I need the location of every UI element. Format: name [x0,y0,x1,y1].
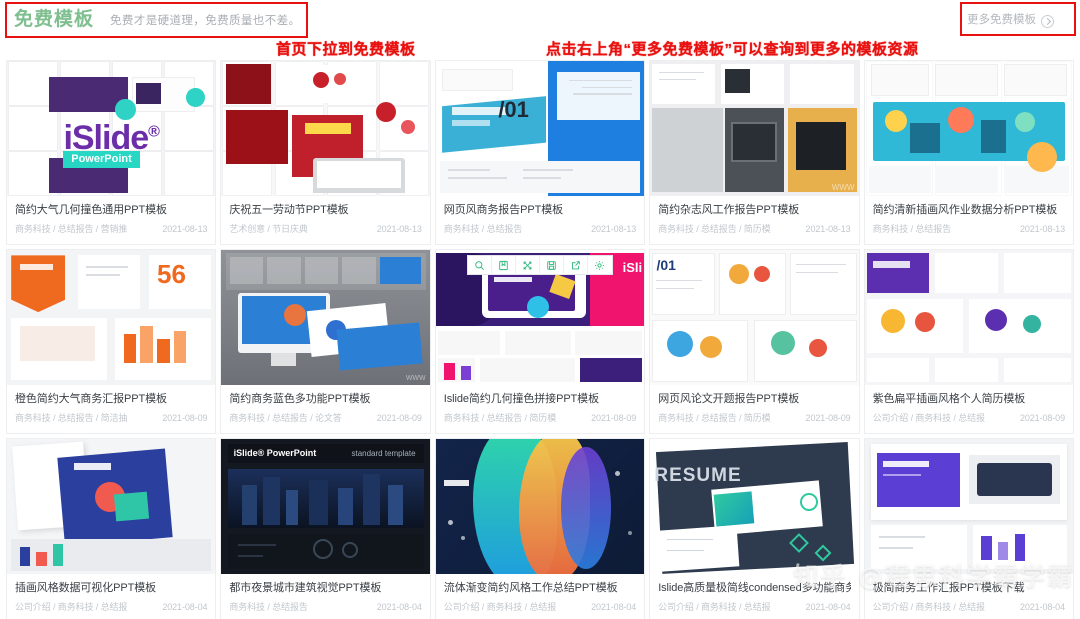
template-meta: 庆祝五一劳动节PPT模板艺术创意 / 节日庆典2021-08-13 [221,196,429,236]
settings-gear-icon[interactable] [588,256,612,275]
template-title[interactable]: 简约大气几何撞色通用PPT模板 [15,203,207,218]
template-tags[interactable]: 商务科技 / 总结报告 / 论文答 [229,412,341,425]
template-date: 2021-08-04 [373,601,422,614]
template-title[interactable]: 庆祝五一劳动节PPT模板 [229,203,421,218]
template-meta: 流体渐变简约风格工作总结PPT模板公司介绍 / 商务科技 / 总结报2021-0… [436,574,644,614]
template-date: 2021-08-09 [587,412,636,425]
template-thumbnail[interactable]: WWW [221,250,429,385]
template-meta: 紫色扁平插画风格个人简历模板公司介绍 / 商务科技 / 总结报2021-08-0… [865,385,1073,425]
template-thumbnail[interactable] [7,439,215,574]
template-grid: iSlide® PowerPoint 简约大气几何撞色通用PPT模板商务科技 /… [6,60,1074,619]
template-meta: 简约大气几何撞色通用PPT模板商务科技 / 总结报告 / 营销推2021-08-… [7,196,215,236]
template-subinfo: 商务科技 / 总结报告2021-08-04 [229,601,421,614]
template-tags[interactable]: 商务科技 / 总结报告 [444,223,522,236]
template-date: 2021-08-09 [802,412,851,425]
template-tags[interactable]: 公司介绍 / 商务科技 / 总结报 [444,601,556,614]
template-title[interactable]: 插画风格数据可视化PPT模板 [15,581,207,596]
template-thumbnail[interactable]: iSlide® PowerPoint standard template [221,439,429,574]
template-thumbnail[interactable] [865,439,1073,574]
template-subinfo: 商务科技 / 总结报告 / 简洁抽2021-08-09 [15,412,207,425]
template-meta: 网页风论文开题报告PPT模板商务科技 / 总结报告 / 简历模2021-08-0… [650,385,858,425]
template-meta: Islide高质量极简线condensed多功能商务模板公司介绍 / 商务科技 … [650,574,858,614]
template-meta: 简约清新插画风作业数据分析PPT模板商务科技 / 总结报告2021-08-13 [865,196,1073,236]
template-thumbnail[interactable]: iSlide® PowerPoint [7,61,215,196]
bookmark-save-icon[interactable] [492,256,516,275]
template-date: 2021-08-13 [1016,223,1065,236]
template-tags[interactable]: 公司介绍 / 商务科技 / 总结报 [15,601,127,614]
template-tags[interactable]: 商务科技 / 总结报告 / 简历模 [444,412,556,425]
template-meta: 网页风商务报告PPT模板商务科技 / 总结报告2021-08-13 [436,196,644,236]
template-meta: 简约商务蓝色多功能PPT模板商务科技 / 总结报告 / 论文答2021-08-0… [221,385,429,425]
template-thumbnail[interactable]: /01 [650,250,858,385]
template-card[interactable]: 插画风格数据可视化PPT模板公司介绍 / 商务科技 / 总结报2021-08-0… [6,438,216,619]
template-subinfo: 公司介绍 / 商务科技 / 总结报2021-08-04 [15,601,207,614]
template-title[interactable]: 简约杂志风工作报告PPT模板 [658,203,850,218]
template-subinfo: 商务科技 / 总结报告 / 论文答2021-08-09 [229,412,421,425]
template-date: 2021-08-13 [373,223,422,236]
template-date: 2021-08-04 [158,601,207,614]
annotation-caption-left: 首页下拉到免费模板 [276,40,416,60]
template-card[interactable]: RESUME Islide高质量极简线condensed多功能商务模板公司介绍 … [649,438,859,619]
template-subinfo: 公司介绍 / 商务科技 / 总结报2021-08-04 [658,601,850,614]
template-meta: 简约杂志风工作报告PPT模板商务科技 / 总结报告 / 简历模2021-08-1… [650,196,858,236]
template-thumbnail[interactable]: WWW [650,61,858,196]
template-meta: 极简商务工作汇报PPT模板下载公司介绍 / 商务科技 / 总结报2021-08-… [865,574,1073,614]
template-card[interactable]: iSlide® PowerPoint 简约大气几何撞色通用PPT模板商务科技 /… [6,60,216,245]
template-title[interactable]: 简约清新插画风作业数据分析PPT模板 [873,203,1065,218]
template-title[interactable]: 极简商务工作汇报PPT模板下载 [873,581,1065,596]
template-card[interactable]: 56 橙色简约大气商务汇报PPT模板商务科技 / 总结报告 / 简洁抽2021-… [6,249,216,434]
template-thumbnail[interactable] [221,61,429,196]
template-title[interactable]: Islide高质量极简线condensed多功能商务模板 [658,581,850,596]
template-title[interactable]: 简约商务蓝色多功能PPT模板 [229,392,421,407]
template-thumbnail[interactable]: 56 [7,250,215,385]
template-title[interactable]: Islide简约几何撞色拼接PPT模板 [444,392,636,407]
template-thumbnail[interactable] [865,61,1073,196]
template-tags[interactable]: 商务科技 / 总结报告 / 简洁抽 [15,412,127,425]
template-subinfo: 公司介绍 / 商务科技 / 总结报2021-08-04 [444,601,636,614]
template-tags[interactable]: 公司介绍 / 商务科技 / 总结报 [658,601,770,614]
template-subinfo: 公司介绍 / 商务科技 / 总结报2021-08-09 [873,412,1065,425]
template-meta: 橙色简约大气商务汇报PPT模板商务科技 / 总结报告 / 简洁抽2021-08-… [7,385,215,425]
template-date: 2021-08-13 [587,223,636,236]
template-card[interactable]: 紫色扁平插画风格个人简历模板公司介绍 / 商务科技 / 总结报2021-08-0… [864,249,1074,434]
template-tags[interactable]: 公司介绍 / 商务科技 / 总结报 [873,601,985,614]
template-tags[interactable]: 商务科技 / 总结报告 [229,601,307,614]
template-card[interactable]: 庆祝五一劳动节PPT模板艺术创意 / 节日庆典2021-08-13 [220,60,430,245]
template-card[interactable]: WWW 简约杂志风工作报告PPT模板商务科技 / 总结报告 / 简历模2021-… [649,60,859,245]
template-subinfo: 商务科技 / 总结报告 / 简历模2021-08-09 [658,412,850,425]
template-subinfo: 商务科技 / 总结报告 / 简历模2021-08-13 [658,223,850,236]
template-title[interactable]: 紫色扁平插画风格个人简历模板 [873,392,1065,407]
template-date: 2021-08-13 [158,223,207,236]
template-tags[interactable]: 商务科技 / 总结报告 / 营销推 [15,223,127,236]
template-card[interactable]: 流体渐变简约风格工作总结PPT模板公司介绍 / 商务科技 / 总结报2021-0… [435,438,645,619]
template-card[interactable]: 极简商务工作汇报PPT模板下载公司介绍 / 商务科技 / 总结报2021-08-… [864,438,1074,619]
annotation-box-header [5,2,308,38]
template-title[interactable]: 都市夜景城市建筑视觉PPT模板 [229,581,421,596]
template-title[interactable]: 流体渐变简约风格工作总结PPT模板 [444,581,636,596]
share-export-icon[interactable] [564,256,588,275]
template-subinfo: 商务科技 / 总结报告2021-08-13 [873,223,1065,236]
template-card[interactable]: /01 网页风论文开题报告PPT模板商务科技 / 总结报告 / 简历模2021-… [649,249,859,434]
template-thumbnail[interactable]: RESUME [650,439,858,574]
template-thumbnail[interactable] [865,250,1073,385]
template-card[interactable]: /01 网页风商务报告PPT模板商务科技 / 总结报告2021-08-13 [435,60,645,245]
page-root: 免费模板 免费才是硬道理，免费质量也不差。 更多免费模板 首页下拉到免费模板 点… [0,0,1080,619]
card-hover-toolbar[interactable] [467,255,613,275]
fullscreen-expand-icon[interactable] [516,256,540,275]
template-date: 2021-08-04 [802,601,851,614]
template-thumbnail[interactable]: /01 [436,61,644,196]
template-title[interactable]: 橙色简约大气商务汇报PPT模板 [15,392,207,407]
template-date: 2021-08-09 [1016,412,1065,425]
template-tags[interactable]: 商务科技 / 总结报告 [873,223,951,236]
template-card[interactable]: WWW 简约商务蓝色多功能PPT模板商务科技 / 总结报告 / 论文答2021-… [220,249,430,434]
template-card[interactable]: iSli Islide简约几何撞色拼接PPT模板商务科技 / 总结报告 / 简历… [435,249,645,434]
template-tags[interactable]: 商务科技 / 总结报告 / 简历模 [658,412,770,425]
template-date: 2021-08-09 [373,412,422,425]
template-subinfo: 艺术创意 / 节日庆典2021-08-13 [229,223,421,236]
template-date: 2021-08-04 [1016,601,1065,614]
template-subinfo: 商务科技 / 总结报告2021-08-13 [444,223,636,236]
preview-search-icon[interactable] [468,256,492,275]
template-title[interactable]: 网页风商务报告PPT模板 [444,203,636,218]
download-icon[interactable] [540,256,564,275]
template-date: 2021-08-04 [587,601,636,614]
template-title[interactable]: 网页风论文开题报告PPT模板 [658,392,850,407]
annotation-caption-right: 点击右上角“更多免费模板”可以查询到更多的模板资源 [546,40,919,60]
template-meta: 都市夜景城市建筑视觉PPT模板商务科技 / 总结报告2021-08-04 [221,574,429,614]
template-meta: Islide简约几何撞色拼接PPT模板商务科技 / 总结报告 / 简历模2021… [436,385,644,425]
template-date: 2021-08-09 [158,412,207,425]
template-thumbnail[interactable] [436,439,644,574]
template-tags[interactable]: 艺术创意 / 节日庆典 [229,223,307,236]
template-date: 2021-08-13 [802,223,851,236]
template-subinfo: 商务科技 / 总结报告 / 简历模2021-08-09 [444,412,636,425]
template-card[interactable]: 简约清新插画风作业数据分析PPT模板商务科技 / 总结报告2021-08-13 [864,60,1074,245]
annotation-box-more-link [960,2,1076,36]
template-subinfo: 公司介绍 / 商务科技 / 总结报2021-08-04 [873,601,1065,614]
template-card[interactable]: iSlide® PowerPoint standard template 都市夜… [220,438,430,619]
template-tags[interactable]: 公司介绍 / 商务科技 / 总结报 [873,412,985,425]
template-tags[interactable]: 商务科技 / 总结报告 / 简历模 [658,223,770,236]
template-subinfo: 商务科技 / 总结报告 / 营销推2021-08-13 [15,223,207,236]
template-meta: 插画风格数据可视化PPT模板公司介绍 / 商务科技 / 总结报2021-08-0… [7,574,215,614]
